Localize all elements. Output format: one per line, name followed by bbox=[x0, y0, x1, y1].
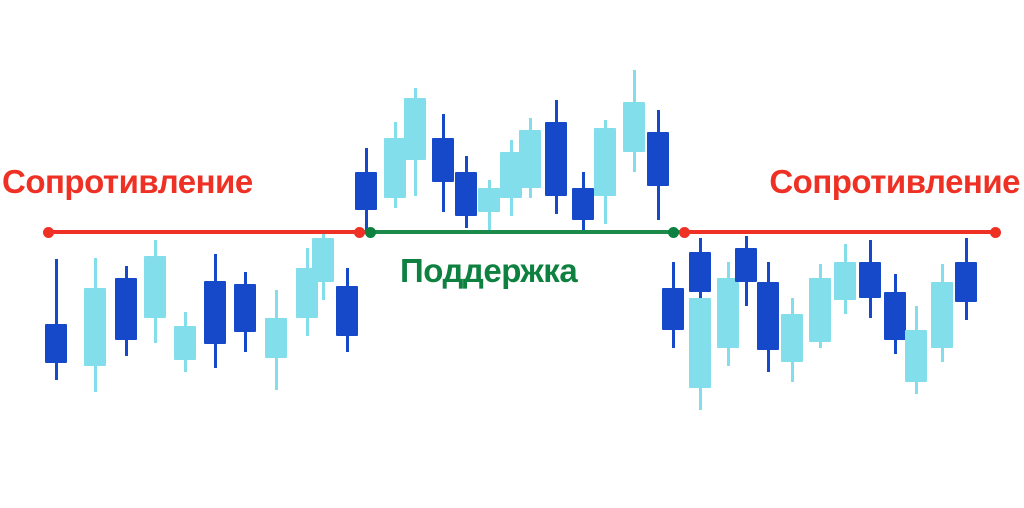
candle-body bbox=[689, 252, 711, 292]
resistance-left-segment bbox=[48, 230, 362, 234]
candle-body bbox=[174, 326, 196, 360]
candle-body bbox=[336, 286, 358, 336]
candle-body bbox=[859, 262, 881, 298]
candle-body bbox=[84, 288, 106, 366]
candle-body bbox=[955, 262, 977, 302]
candle-body bbox=[384, 138, 406, 198]
resistance-label-right: Сопротивление bbox=[769, 163, 1020, 201]
candle-body bbox=[931, 282, 953, 348]
candle-body bbox=[545, 122, 567, 196]
resistance-label-left: Сопротивление bbox=[2, 163, 253, 201]
candle-body bbox=[623, 102, 645, 152]
candle-body bbox=[355, 172, 377, 210]
candle-body bbox=[144, 256, 166, 318]
candle-body bbox=[905, 330, 927, 382]
candle-body bbox=[572, 188, 594, 220]
candle-body bbox=[809, 278, 831, 342]
support-label: Поддержка bbox=[400, 252, 577, 290]
candle-body bbox=[312, 238, 334, 282]
candle-body bbox=[717, 278, 739, 348]
node-right-end bbox=[990, 227, 1001, 238]
node-break-right-red bbox=[679, 227, 690, 238]
candle-body bbox=[204, 281, 226, 344]
node-break-left-red bbox=[354, 227, 365, 238]
candle-body bbox=[432, 138, 454, 182]
candle-body bbox=[884, 292, 906, 340]
candle-body bbox=[647, 132, 669, 186]
candle-body bbox=[689, 298, 711, 388]
candle-body bbox=[781, 314, 803, 362]
candle-body bbox=[115, 278, 137, 340]
node-break-right-grn bbox=[668, 227, 679, 238]
candle-body bbox=[594, 128, 616, 196]
node-left-end bbox=[43, 227, 54, 238]
candle-body bbox=[404, 98, 426, 160]
candle-body bbox=[735, 248, 757, 282]
candle-body bbox=[834, 262, 856, 300]
support-segment bbox=[362, 230, 681, 234]
candle-body bbox=[455, 172, 477, 216]
resistance-right-segment bbox=[681, 230, 995, 234]
candle-body bbox=[757, 282, 779, 350]
candle-body bbox=[519, 130, 541, 188]
candle-body bbox=[45, 324, 67, 363]
candlestick-chart-canvas: Сопротивление Сопротивление Поддержка bbox=[0, 0, 1024, 508]
node-break-left-grn bbox=[365, 227, 376, 238]
candle-body bbox=[662, 288, 684, 330]
candle-body bbox=[234, 284, 256, 332]
candle-body bbox=[478, 188, 500, 212]
candle-body bbox=[265, 318, 287, 358]
